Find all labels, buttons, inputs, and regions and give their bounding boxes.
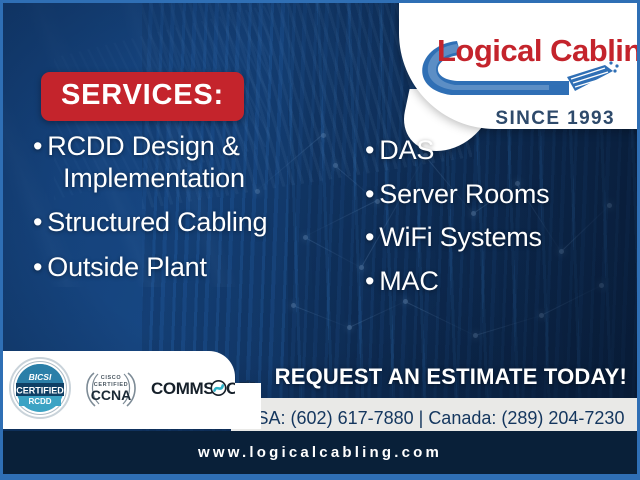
service-item-label: WiFi Systems [379,222,542,252]
bullet-icon: • [33,131,42,161]
bullet-icon: • [365,266,374,296]
cta-headline: REQUEST AN ESTIMATE TODAY! [275,364,627,390]
commscope-text: COMMSCOPE [151,379,255,398]
service-item-label: Outside Plant [47,252,207,282]
services-heading-text: SERVICES: [61,79,224,111]
service-item: •MAC [365,266,635,298]
promotional-flyer: Logical Cabling SINCE 1993 SERVICES: •RC… [0,0,640,480]
bicsi-brand-text: BICSI [29,372,52,382]
commscope-logo-icon: COMMSCOPE ® [151,375,255,401]
bullet-icon: • [365,179,374,209]
bullet-icon: • [33,252,42,282]
service-item-label: MAC [379,266,438,296]
website-url[interactable]: www.logicalcabling.com [198,444,442,461]
services-heading-badge: SERVICES: [41,72,244,121]
logo-wordmark: Logical Cabling [437,31,640,91]
service-item: •Server Rooms [365,179,635,211]
tagline-since: SINCE 1993 [495,108,615,130]
services-column-left: •RCDD Design & Implementation •Structure… [33,131,363,296]
ccna-text: CCNA [91,387,131,403]
certification-badges-row: BICSI CERTIFIED RCDD CISCO CERTIFIED CCN… [9,357,255,419]
registered-mark-icon: ® [246,380,251,387]
service-item-label: Structured Cabling [47,207,267,237]
bullet-icon: • [365,135,374,165]
logo-wordmark-text: Logical Cabling [437,33,640,68]
certifications-panel: BICSI CERTIFIED RCDD CISCO CERTIFIED CCN… [0,351,235,429]
service-item-label: Server Rooms [379,179,549,209]
service-item: •Structured Cabling [33,207,363,239]
cisco-ccna-certified-badge-icon: CISCO CERTIFIED CCNA [81,365,141,411]
phone-numbers-text[interactable]: USA: (602) 617-7880 | Canada: (289) 204-… [244,408,625,429]
service-item: •DAS [365,135,635,167]
service-item-label: DAS [379,135,434,165]
bicsi-certified-text: CERTIFIED [16,386,64,396]
bicsi-rcdd-text: RCDD [28,397,51,406]
website-footer-bar: www.logicalcabling.com [3,431,637,477]
services-column-right: •DAS •Server Rooms •WiFi Systems •MAC [365,135,635,309]
cisco-brand-text: CISCO [101,375,122,381]
company-logo[interactable]: Logical Cabling SINCE 1993 [397,13,629,133]
bicsi-rcdd-certified-badge-icon: BICSI CERTIFIED RCDD [9,357,71,419]
service-item: •WiFi Systems [365,222,635,254]
bullet-icon: • [365,222,374,252]
bullet-icon: • [33,207,42,237]
service-item-label-cont: Implementation [33,163,363,195]
service-item-label: RCDD Design & [47,131,239,161]
service-item: •RCDD Design & Implementation [33,131,363,194]
service-item: •Outside Plant [33,252,363,284]
